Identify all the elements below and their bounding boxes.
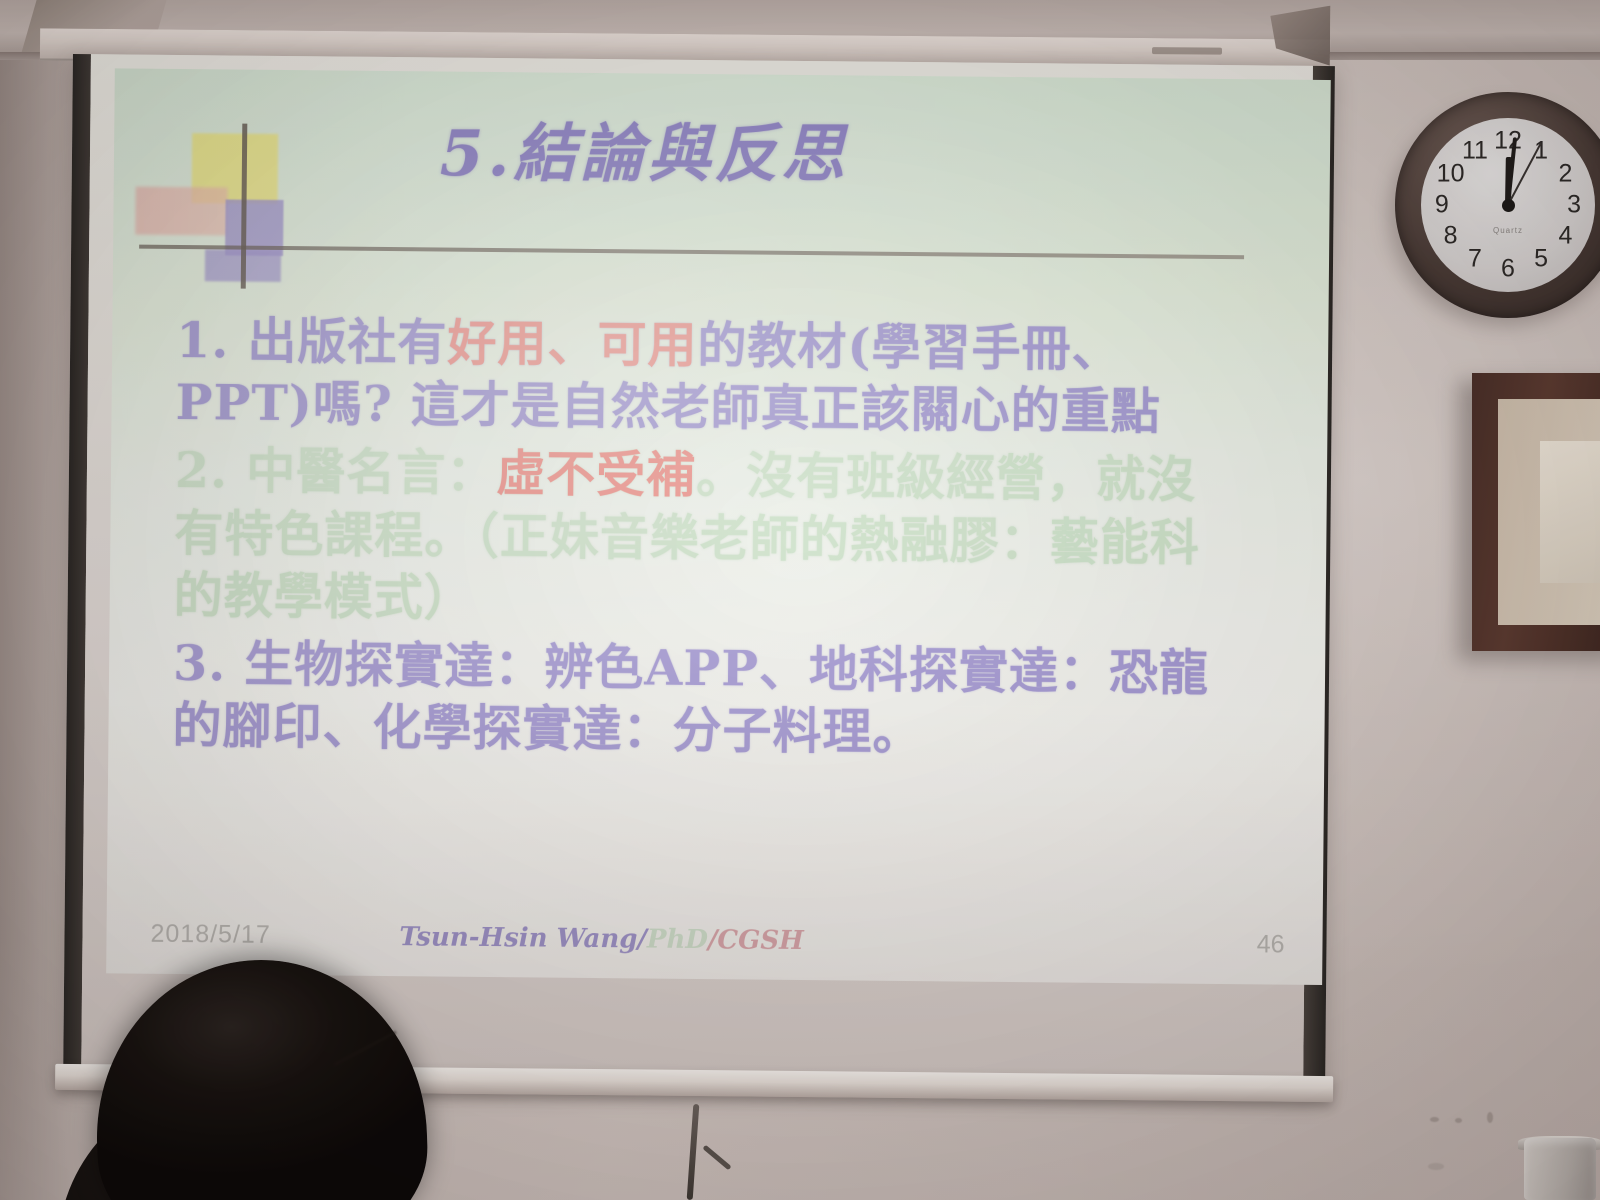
casing-nub bbox=[1152, 47, 1222, 55]
clock-numeral-7: 7 bbox=[1468, 244, 1482, 273]
frame-mat bbox=[1498, 399, 1600, 625]
bullet-1-part-a: 1. 出版社有 bbox=[176, 311, 448, 372]
bullet-item-3: 3. 生物探實達：辨色APP、地科探實達：恐龍的腳印、化學探實達：分子料理。 bbox=[172, 632, 1233, 767]
wall-clock: 12 1 2 3 4 5 6 7 8 9 10 11 Quartz bbox=[1395, 92, 1600, 324]
clock-center-cap bbox=[1502, 199, 1515, 212]
clock-brand-label: Quartz bbox=[1493, 226, 1523, 235]
framed-picture bbox=[1472, 373, 1600, 655]
wall-mark bbox=[1430, 1117, 1439, 1122]
clock-numeral-4: 4 bbox=[1558, 222, 1572, 251]
wall-mark bbox=[1428, 1163, 1444, 1170]
frame-border bbox=[1472, 373, 1600, 651]
projector-screen: 5.結論與反思 1. 出版社有好用、可用的教材(學習手冊、PPT)嗎? 這才是自… bbox=[63, 54, 1335, 1096]
slide-author-line: Tsun-Hsin Wang/PhD/CGSH bbox=[106, 919, 1096, 959]
clock-face: 12 1 2 3 4 5 6 7 8 9 10 11 Quartz bbox=[1421, 118, 1595, 292]
slide-title: 5.結論與反思 bbox=[114, 103, 1174, 195]
classroom-photo: 5.結論與反思 1. 出版社有好用、可用的教材(學習手冊、PPT)嗎? 這才是自… bbox=[0, 0, 1600, 1200]
horizontal-rule bbox=[139, 245, 1244, 260]
clock-numeral-5: 5 bbox=[1534, 244, 1548, 273]
bullet-item-2: 2. 中醫名言：虛不受補。沒有班級經營，就沒有特色課程。（正妹音樂老師的熱融膠：… bbox=[173, 439, 1235, 636]
frame-artwork bbox=[1540, 441, 1600, 583]
bullet-3-text: 3. 生物探實達：辨色APP、地科探實達：恐龍的腳印、化學探實達：分子料理。 bbox=[172, 634, 1209, 761]
clock-numeral-6: 6 bbox=[1501, 255, 1515, 284]
wall-mark bbox=[1487, 1112, 1493, 1123]
author-institution: /CGSH bbox=[708, 925, 804, 956]
bullet-2-part-a: 2. 中醫名言： bbox=[175, 441, 497, 502]
projected-slide: 5.結論與反思 1. 出版社有好用、可用的教材(學習手冊、PPT)嗎? 這才是自… bbox=[106, 68, 1331, 985]
slide-body: 1. 出版社有好用、可用的教材(學習手冊、PPT)嗎? 這才是自然老師真正該關心… bbox=[172, 309, 1236, 773]
clock-numeral-8: 8 bbox=[1444, 222, 1458, 251]
wall-mark bbox=[1455, 1118, 1462, 1123]
bullet-2-highlight: 虛不受補 bbox=[496, 444, 697, 504]
author-name: Tsun-Hsin Wang/ bbox=[399, 922, 647, 954]
bullet-item-1: 1. 出版社有好用、可用的教材(學習手冊、PPT)嗎? 這才是自然老師真正該關心… bbox=[175, 309, 1236, 444]
screen-surface: 5.結論與反思 1. 出版社有好用、可用的教材(學習手冊、PPT)嗎? 這才是自… bbox=[81, 54, 1313, 1078]
author-degree: PhD bbox=[647, 925, 708, 956]
bullet-1-highlight: 好用、可用 bbox=[447, 314, 698, 374]
paper-cup bbox=[1524, 1138, 1596, 1200]
slide-page-number: 46 bbox=[1257, 930, 1285, 959]
